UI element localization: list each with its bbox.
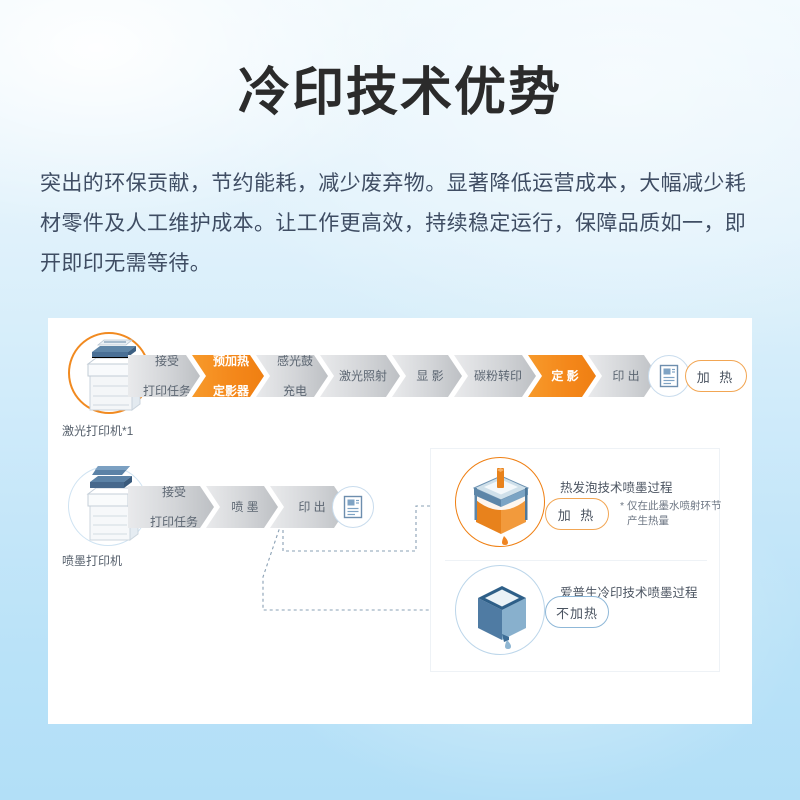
flow-step-label-line2: 充电 <box>264 384 326 399</box>
document-icon <box>343 495 363 519</box>
flow-step-label-line1: 喷 墨 <box>214 500 276 515</box>
page-title: 冷印技术优势 <box>0 62 800 124</box>
flow-step-label-line1: 定 影 <box>536 369 594 384</box>
thermal-heat-badge: 加 热 <box>545 498 609 530</box>
flow-step-label-line1: 激光照射 <box>328 369 398 384</box>
flow-step-drum-charge[interactable]: 感光鼓 充电 <box>256 355 328 397</box>
inkjet-step-accept-job[interactable]: 接受 打印任务 <box>128 486 214 528</box>
flow-step-label-line1: 印 出 <box>596 369 656 384</box>
laser-heat-badge: 加 热 <box>685 360 747 392</box>
inkjet-flow: 接受 打印任务 喷 墨 印 出 <box>128 486 340 528</box>
flow-step-label-line2: 打印任务 <box>136 515 212 530</box>
panel-divider <box>445 560 707 561</box>
laser-output-doc-circle <box>648 355 690 397</box>
flow-step-label-line1: 显 影 <box>400 369 460 384</box>
inkjet-printer-label: 喷墨打印机 <box>62 552 122 569</box>
thermal-heat-note-line1: * 仅在此墨水喷射环节 <box>620 499 732 514</box>
page-subtitle: 突出的环保贡献，节约能耗，减少废弃物。显著降低运营成本，大幅减少耗材零件及人工维… <box>40 164 752 284</box>
cold-ink-chamber-icon <box>468 578 536 648</box>
thermal-heat-note: * 仅在此墨水喷射环节 产生热量 <box>620 499 732 529</box>
flow-step-preheat-fuser[interactable]: 预加热 定影器 <box>192 355 264 397</box>
laser-printer-label: 激光打印机*1 <box>62 422 133 439</box>
flow-step-fusing[interactable]: 定 影 <box>528 355 596 397</box>
flow-step-label-line2: 打印任务 <box>136 384 198 399</box>
inkjet-output-doc-circle <box>332 486 374 528</box>
flow-step-label-line1: 接受 <box>136 354 198 369</box>
page-background: 冷印技术优势 突出的环保贡献，节约能耗，减少废弃物。显著降低运营成本，大幅减少耗… <box>0 0 800 800</box>
flow-step-laser-exposure[interactable]: 激光照射 <box>320 355 400 397</box>
flow-step-accept-job[interactable]: 接受 打印任务 <box>128 355 200 397</box>
flow-step-toner-transfer[interactable]: 碳粉转印 <box>454 355 536 397</box>
thermal-process-title: 热发泡技术喷墨过程 <box>560 477 673 496</box>
thermal-heat-note-line2: 产生热量 <box>620 514 732 529</box>
inkjet-step-eject-ink[interactable]: 喷 墨 <box>206 486 278 528</box>
thermal-ink-chamber-icon <box>466 466 536 544</box>
document-icon <box>659 364 679 388</box>
flow-step-label-line1: 接受 <box>136 485 212 500</box>
laser-flow: 接受 打印任务 预加热 定影器 感光鼓 充电 激光照射 显 影 碳粉转印 定 影 <box>128 355 650 397</box>
flow-step-develop[interactable]: 显 影 <box>392 355 462 397</box>
flow-step-label-line1: 预加热 <box>200 354 262 369</box>
cold-no-heat-badge: 不加热 <box>545 596 609 628</box>
flow-step-label-line1: 感光鼓 <box>264 354 326 369</box>
flow-step-label-line2: 定影器 <box>200 384 262 399</box>
flow-step-label-line1: 碳粉转印 <box>462 369 534 384</box>
